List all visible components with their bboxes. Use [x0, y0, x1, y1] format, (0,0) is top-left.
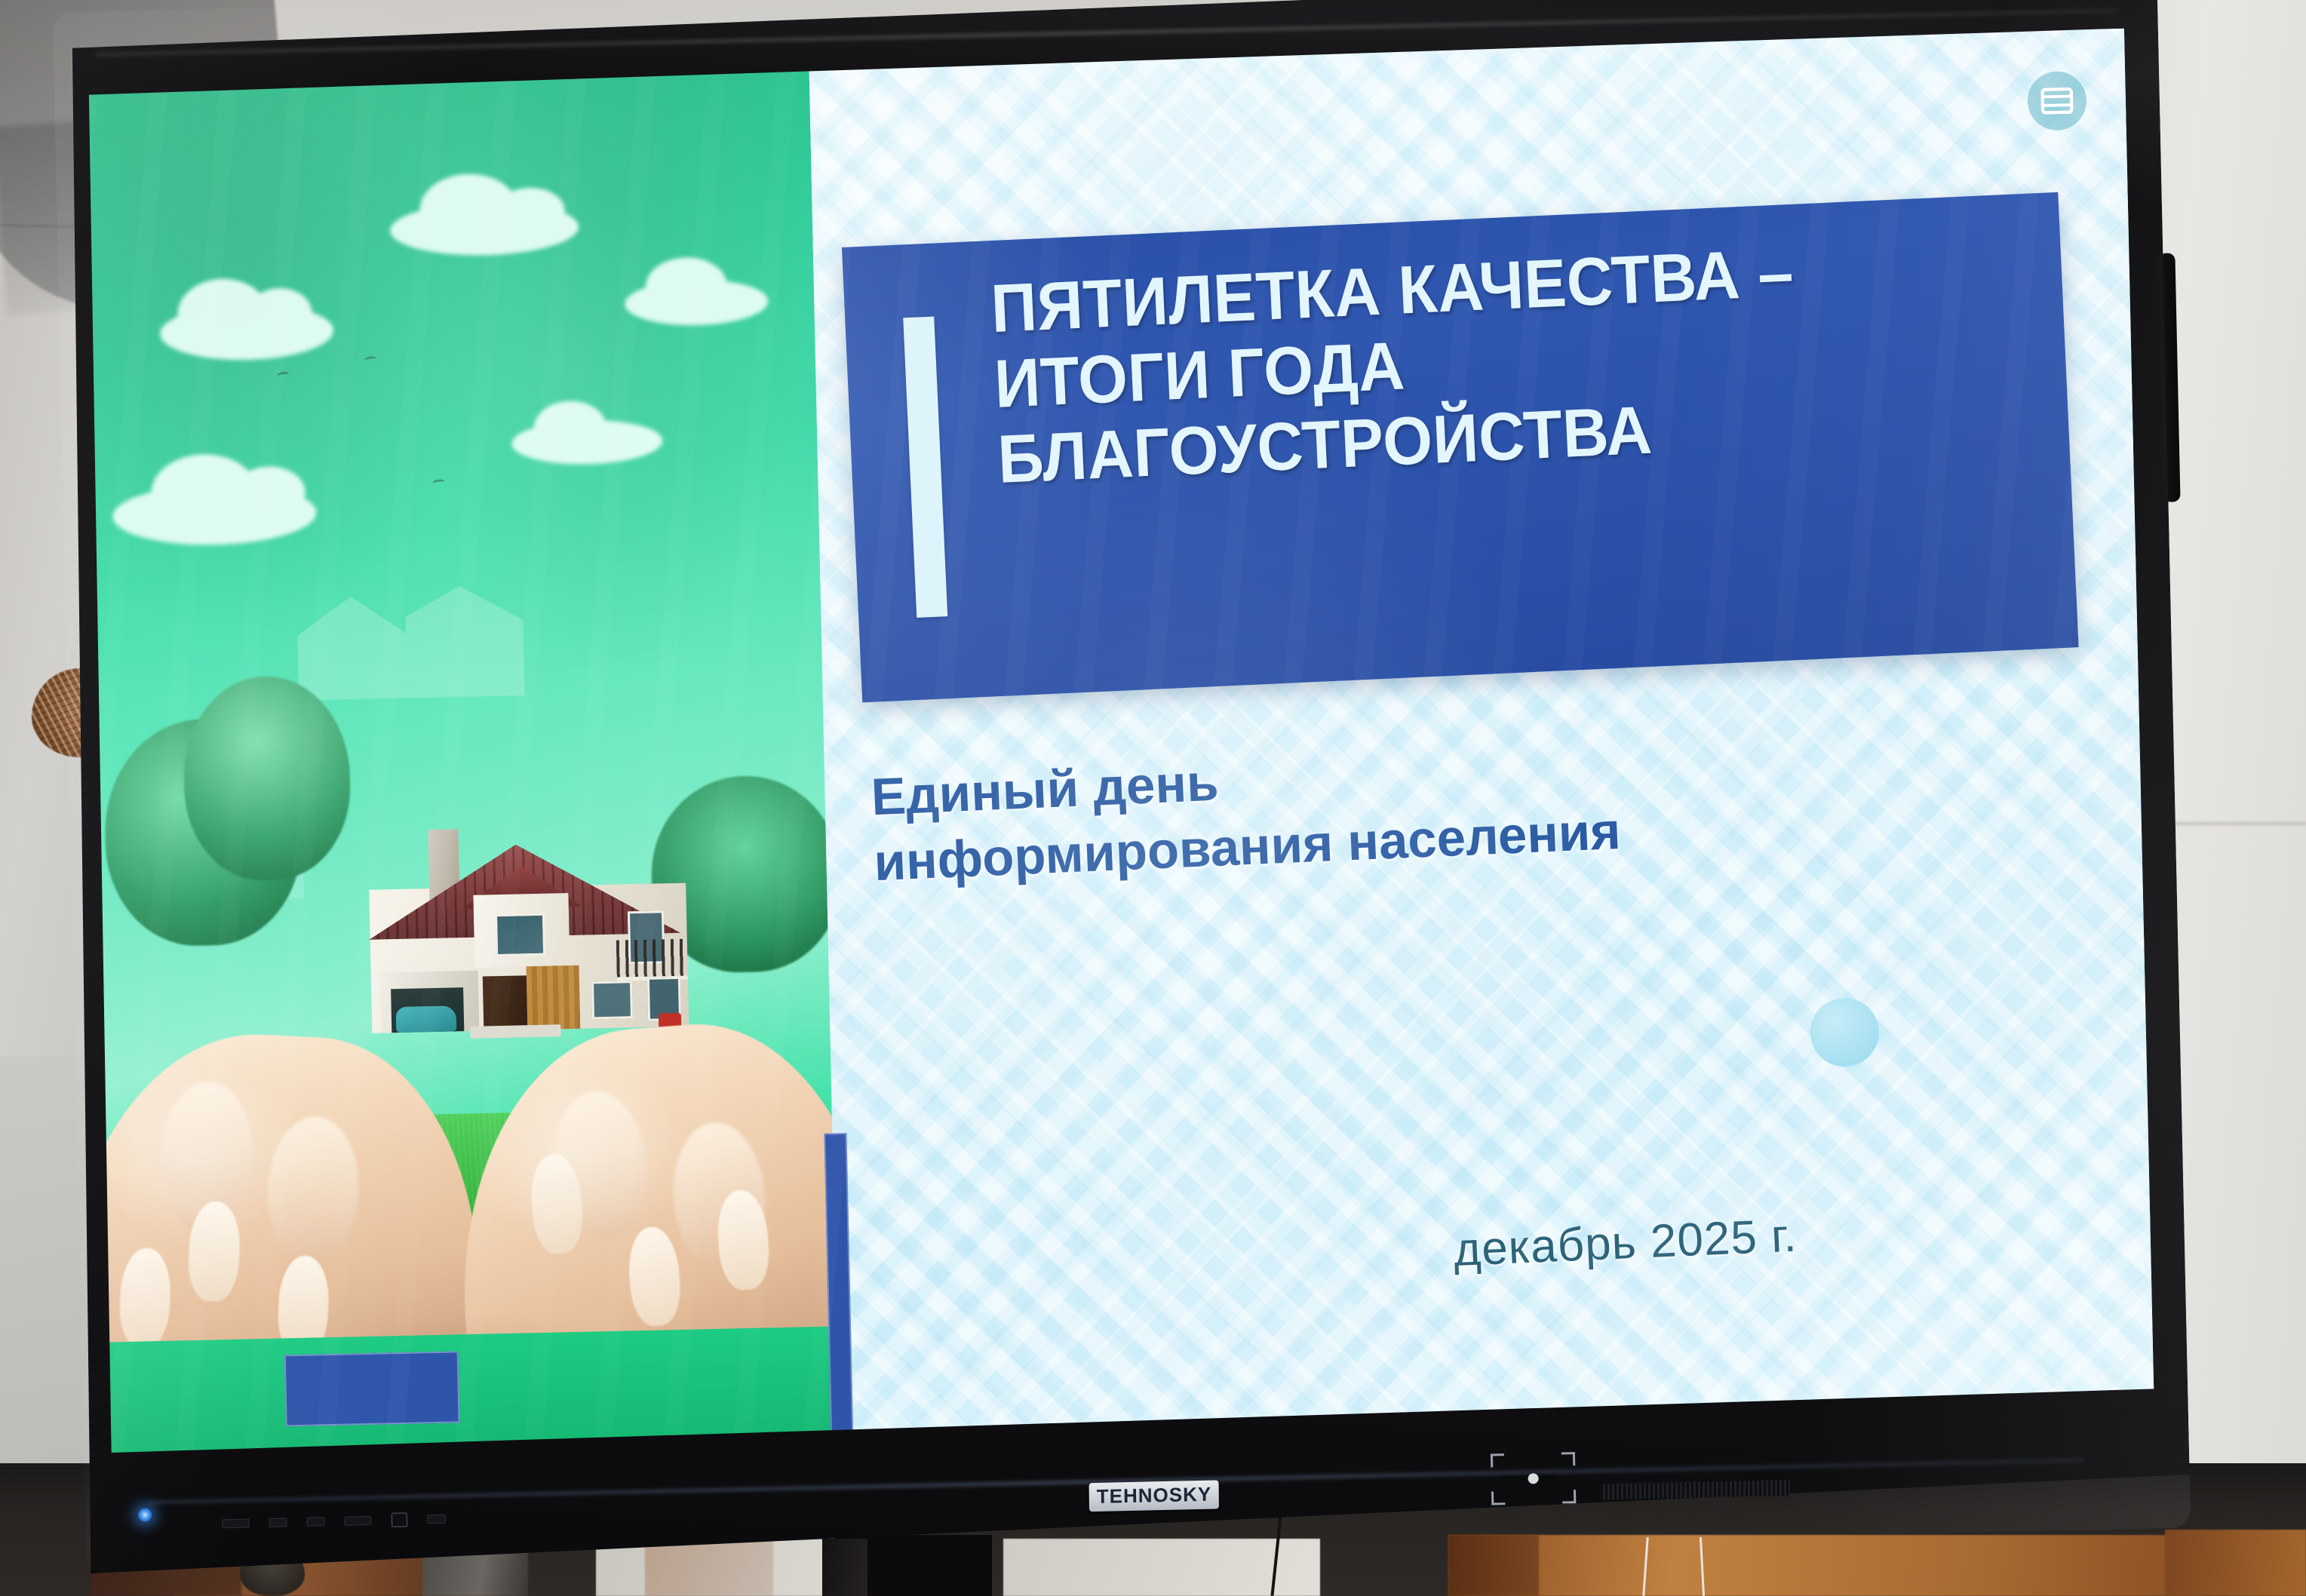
interactive-display[interactable]: ПЯТИЛЕТКА КАЧЕСТВА – ИТОГИ ГОДА БЛАГОУСТ… — [53, 0, 2191, 1573]
ir-sensor-bracket — [1491, 1452, 1576, 1505]
slide-title: ПЯТИЛЕТКА КАЧЕСТВА – ИТОГИ ГОДА БЛАГОУСТ… — [989, 228, 1982, 499]
hdmi-port[interactable] — [223, 1518, 250, 1528]
dormer-window — [495, 913, 545, 956]
display-screen[interactable]: ПЯТИЛЕТКА КАЧЕСТВА – ИТОГИ ГОДА БЛАГОУСТ… — [81, 28, 2154, 1453]
brand-logo: TEHNOSKY — [1089, 1480, 1220, 1512]
speaker-grille — [1601, 1480, 1790, 1499]
usb-port[interactable] — [391, 1512, 408, 1527]
slide-title-block: ПЯТИЛЕТКА КАЧЕСТВА – ИТОГИ ГОДА БЛАГОУСТ… — [842, 192, 2079, 702]
vga-port[interactable] — [269, 1518, 287, 1527]
fingernail — [625, 1225, 683, 1327]
slide-content-panel: ПЯТИЛЕТКА КАЧЕСТВА – ИТОГИ ГОДА БЛАГОУСТ… — [809, 28, 2154, 1436]
wood-cladding — [527, 965, 581, 1030]
fingernail — [118, 1247, 172, 1349]
wooden-trim-right — [2165, 1530, 2306, 1596]
blue-accent-rectangle — [284, 1352, 459, 1427]
audio-port[interactable] — [345, 1516, 372, 1526]
knuckle — [263, 1115, 362, 1268]
car-icon — [396, 1006, 457, 1033]
balcony-railing — [616, 939, 688, 981]
brand-logo-text: TEHNOSKY — [1097, 1483, 1212, 1508]
wooden-dark-band — [1448, 1535, 1539, 1596]
ir-sensor-dot — [1528, 1473, 1538, 1484]
wooden-furniture-right — [1448, 1535, 2203, 1596]
aux-port[interactable] — [428, 1515, 446, 1524]
window-left — [591, 981, 633, 1019]
power-led-indicator — [138, 1508, 152, 1521]
title-accent-bar — [904, 316, 947, 618]
lan-port[interactable] — [307, 1517, 325, 1527]
house-illustration — [344, 777, 704, 1033]
slide-image-panel — [81, 57, 839, 1453]
